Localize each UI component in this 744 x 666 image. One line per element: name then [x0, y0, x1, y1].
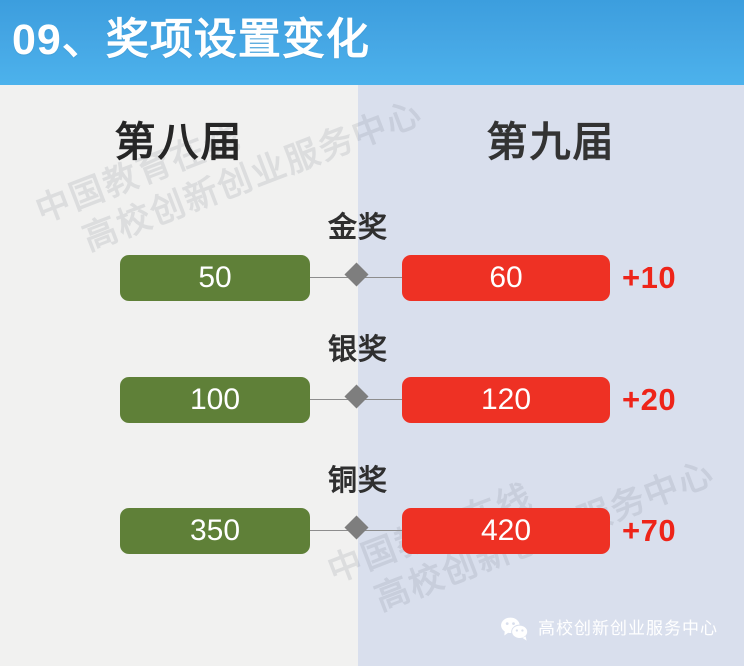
delta-value: +70 [622, 508, 732, 554]
award-row-gold: 金奖 50 60 +10 [0, 210, 744, 320]
diamond-marker-icon [344, 515, 368, 539]
delta-value: +20 [622, 377, 732, 423]
row-connector [310, 276, 402, 280]
delta-value: +10 [622, 255, 732, 301]
column-header-current: 第九届 [358, 115, 744, 169]
row-connector [310, 398, 402, 402]
page-title: 09、奖项设置变化 [12, 9, 370, 71]
diamond-marker-icon [344, 384, 368, 408]
award-row-silver: 银奖 100 120 +20 [0, 332, 744, 442]
award-row-bronze: 铜奖 350 420 +70 [0, 463, 744, 573]
wechat-account-badge: 高校创新创业服务中心 [500, 612, 718, 646]
current-value-bar: 120 [402, 377, 610, 423]
wechat-icon [500, 616, 530, 642]
column-header-previous: 第八届 [0, 115, 358, 169]
diamond-marker-icon [344, 262, 368, 286]
award-label: 银奖 [268, 332, 448, 368]
row-connector [310, 529, 402, 533]
award-label: 铜奖 [268, 463, 448, 499]
slide-root: 09、奖项设置变化 中国教育在线 高校创新创业服务中心 中国教育在线 高校创新创… [0, 0, 744, 666]
wechat-account-name: 高校创新创业服务中心 [538, 616, 718, 642]
content-area: 中国教育在线 高校创新创业服务中心 中国教育在线 高校创新创业服务中心 第八届 … [0, 85, 744, 666]
header-bar: 09、奖项设置变化 [0, 0, 744, 85]
current-value-bar: 420 [402, 508, 610, 554]
previous-value-bar: 350 [120, 508, 310, 554]
current-value-bar: 60 [402, 255, 610, 301]
previous-value-bar: 50 [120, 255, 310, 301]
previous-value-bar: 100 [120, 377, 310, 423]
award-label: 金奖 [268, 210, 448, 246]
